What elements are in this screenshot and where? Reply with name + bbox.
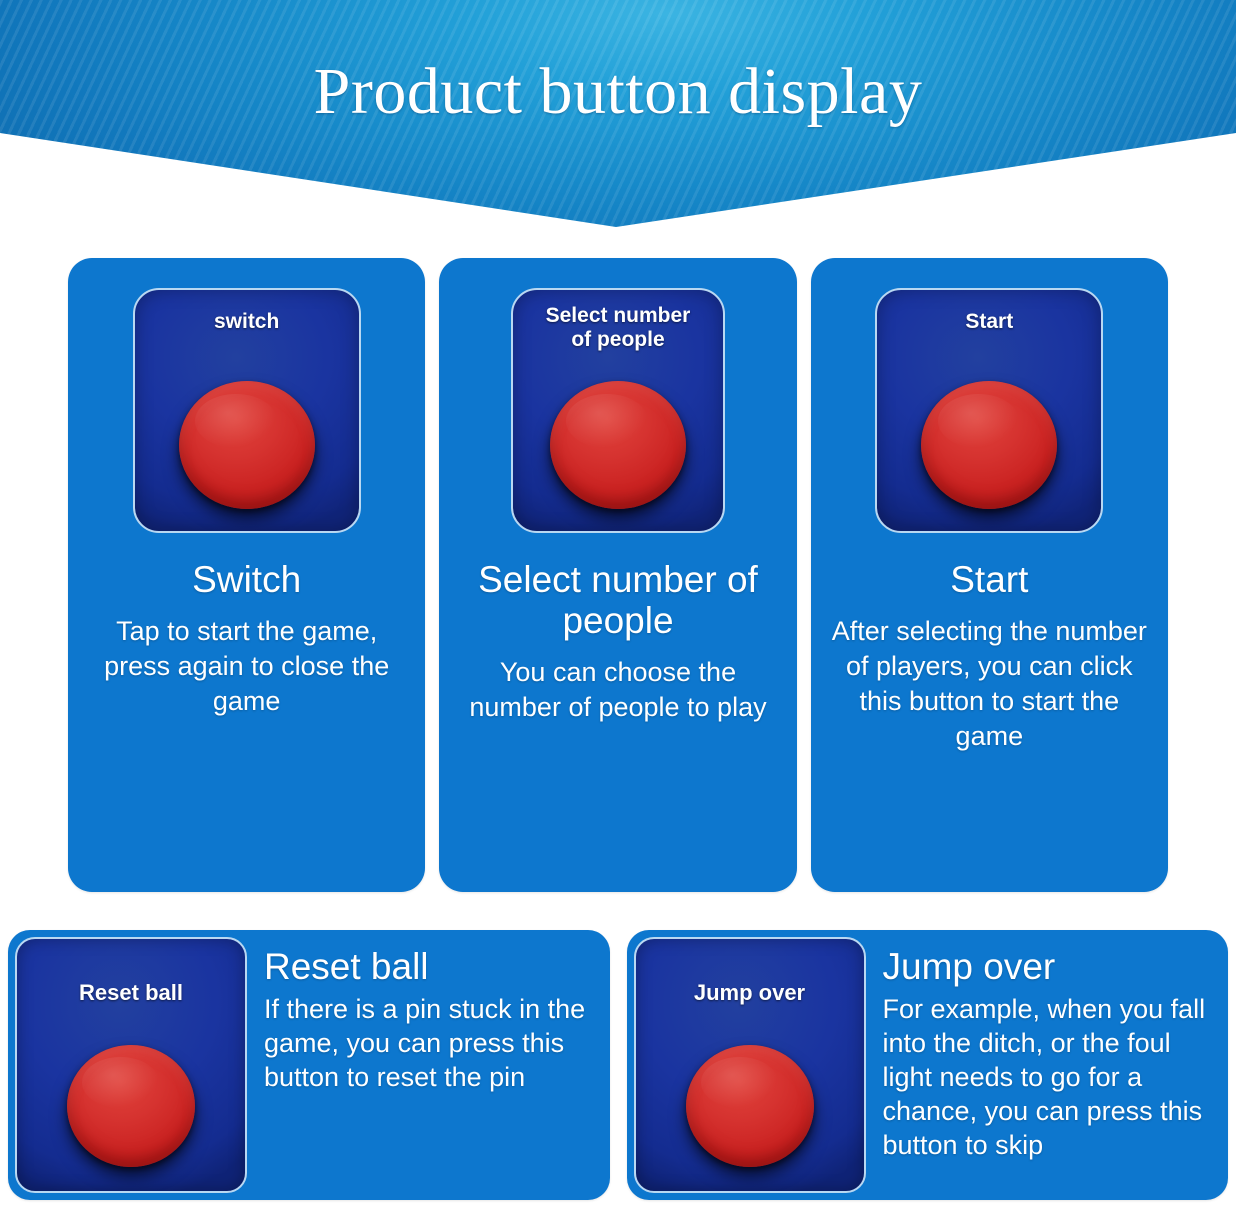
red-push-button-icon[interactable]: [686, 1045, 814, 1167]
card-title-reset-ball: Reset ball: [264, 945, 593, 988]
card-description-switch: Tap to start the game, press again to cl…: [88, 614, 405, 719]
red-push-button-icon[interactable]: [550, 381, 686, 509]
button-photo-select-number-of-people: Select number of people: [511, 288, 725, 533]
photo-label-jump-over: Jump over: [642, 981, 858, 1005]
red-push-button-icon[interactable]: [921, 381, 1057, 509]
card-jump-over[interactable]: Jump over Jump over For example, when yo…: [627, 930, 1229, 1200]
card-description-jump-over: For example, when you fall into the ditc…: [883, 992, 1212, 1162]
red-push-button-icon[interactable]: [67, 1045, 195, 1167]
photo-label-switch: switch: [141, 310, 353, 334]
card-title-jump-over: Jump over: [883, 945, 1212, 988]
photo-label-line-1: Select number: [546, 304, 691, 327]
bottom-card-row: Reset ball Reset ball If there is a pin …: [8, 930, 1228, 1200]
red-push-button-icon[interactable]: [179, 381, 315, 509]
card-start[interactable]: Start Start After selecting the number o…: [811, 258, 1168, 892]
top-card-row: switch Switch Tap to start the game, pre…: [68, 258, 1168, 892]
photo-label-start: Start: [883, 310, 1095, 334]
card-select-number-of-people[interactable]: Select number of people Select number of…: [439, 258, 796, 892]
card-text-reset-ball: Reset ball If there is a pin stuck in th…: [247, 937, 603, 1193]
button-photo-start: Start: [875, 288, 1103, 533]
card-title-switch: Switch: [82, 559, 411, 600]
card-description-reset-ball: If there is a pin stuck in the game, you…: [264, 992, 593, 1094]
card-title-select-number-of-people: Select number of people: [453, 559, 782, 641]
button-photo-reset-ball: Reset ball: [15, 937, 247, 1193]
card-text-jump-over: Jump over For example, when you fall int…: [866, 937, 1222, 1193]
button-photo-switch: switch: [133, 288, 361, 533]
photo-label-line-2: of people: [571, 328, 664, 351]
page-title: Product button display: [0, 54, 1236, 130]
card-title-start: Start: [825, 559, 1154, 600]
product-button-display-page: Product button display switch Switch Tap…: [0, 0, 1236, 1210]
card-switch[interactable]: switch Switch Tap to start the game, pre…: [68, 258, 425, 892]
card-reset-ball[interactable]: Reset ball Reset ball If there is a pin …: [8, 930, 610, 1200]
card-description-start: After selecting the number of players, y…: [831, 614, 1148, 754]
photo-label-reset-ball: Reset ball: [23, 981, 239, 1005]
button-photo-jump-over: Jump over: [634, 937, 866, 1193]
card-description-select-number-of-people: You can choose the number of people to p…: [459, 655, 776, 725]
photo-label-select-number-of-people: Select number of people: [519, 304, 717, 352]
